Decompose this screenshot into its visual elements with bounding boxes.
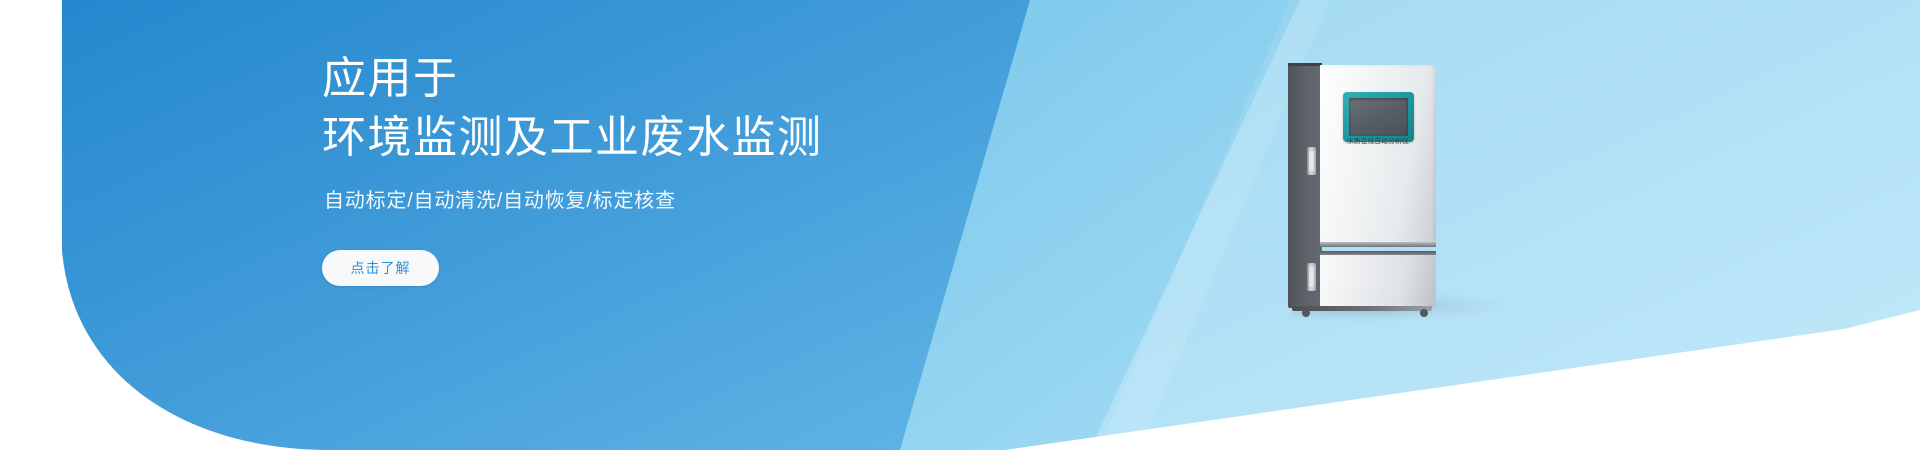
cabinet-caster-left [1302,309,1310,317]
device-front-label: 水质在线自动分析仪 [1320,135,1436,145]
cabinet-caster-right [1420,309,1428,317]
cabinet-lower-handle [1307,263,1316,291]
control-screen-display [1349,98,1408,136]
cabinet-side-panel [1288,63,1322,308]
water-quality-analyzer-image: 水质在线自动分析仪 [1288,63,1436,313]
banner-headline: 应用于 环境监测及工业废水监测 [322,50,823,168]
learn-more-button[interactable]: 点击了解 [322,250,439,286]
banner-content: 应用于 环境监测及工业废水监测 自动标定/自动清洗/自动恢复/标定核查 点击了解 [322,0,1022,450]
banner-subheadline: 自动标定/自动清洗/自动恢复/标定核查 [324,184,676,213]
hero-banner: 水质在线自动分析仪 应用于 环境监测及工业废水监测 自动标定/自动清洗/自动恢复… [0,0,1920,450]
cabinet-lower-door [1320,251,1436,308]
cabinet-upper-handle [1307,147,1316,175]
headline-line-1: 应用于 [322,50,823,109]
headline-line-2: 环境监测及工业废水监测 [322,109,823,168]
cabinet-base [1292,306,1432,311]
cabinet-top-edge [1288,63,1322,66]
